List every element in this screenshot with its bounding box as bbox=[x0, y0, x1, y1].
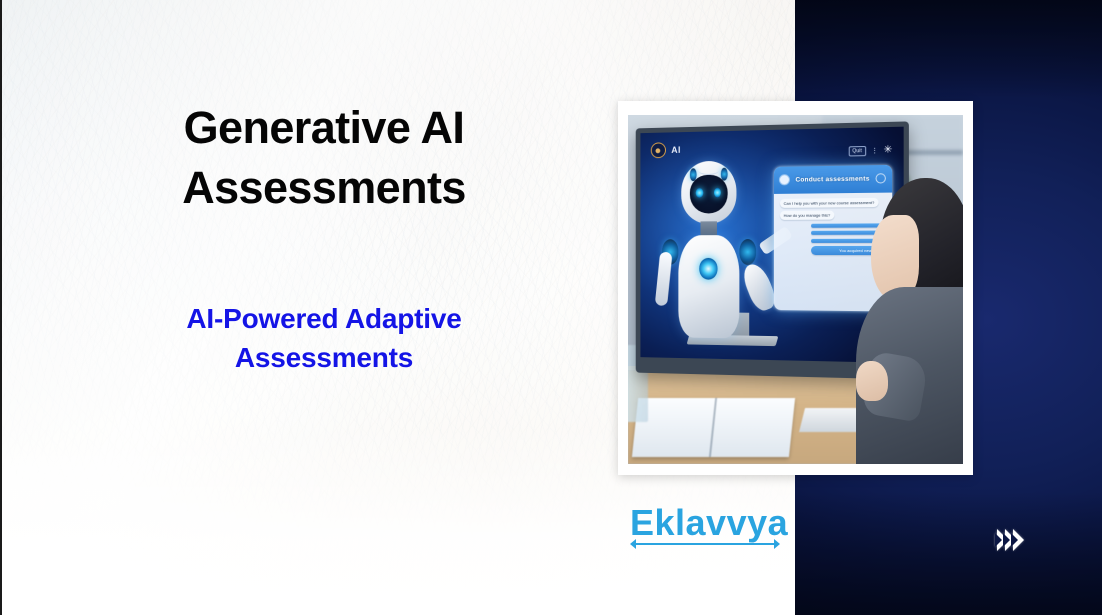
slide-title-block: Generative AI Assessments bbox=[64, 98, 584, 218]
slide-title-line-1: Generative AI bbox=[64, 98, 584, 158]
brand-logo-arrow-underline bbox=[630, 538, 780, 550]
arrow-bar bbox=[634, 543, 774, 545]
robot-arm-left bbox=[655, 252, 673, 307]
presentation-slide: Generative AI Assessments AI-Powered Ada… bbox=[0, 0, 1102, 615]
ai-avatar-icon bbox=[651, 143, 666, 159]
robot-eye-left bbox=[696, 188, 704, 198]
sparkle-icon: ✳ bbox=[884, 146, 893, 156]
robot-face-panel bbox=[690, 175, 728, 214]
next-slide-chevrons[interactable] bbox=[997, 529, 1021, 551]
robot-shoulder-right bbox=[739, 240, 757, 266]
slide-subtitle-block: AI-Powered Adaptive Assessments bbox=[64, 300, 584, 377]
slide-subtitle-line-2: Assessments bbox=[64, 339, 584, 378]
more-options-icon[interactable]: ⋮ bbox=[871, 148, 878, 155]
screen-controls[interactable]: Quit ⋮ ✳ bbox=[849, 146, 893, 157]
student-hand bbox=[856, 361, 887, 401]
student-figure bbox=[849, 178, 963, 464]
robot-head bbox=[681, 161, 737, 224]
chat-message-incoming: How do you manage this? bbox=[780, 211, 835, 220]
ai-badge-label: AI bbox=[672, 146, 682, 156]
chevron-right-icon-3 bbox=[1013, 529, 1024, 551]
chat-avatar-icon bbox=[780, 175, 791, 186]
photo-card: AI Quit ⋮ ✳ bbox=[618, 101, 973, 475]
robot-eye-right bbox=[714, 188, 722, 198]
brand-logo[interactable]: Eklavvya bbox=[630, 505, 780, 550]
slide-subtitle-line-1: AI-Powered Adaptive bbox=[64, 300, 584, 339]
quit-button[interactable]: Quit bbox=[849, 147, 867, 158]
robot-torso bbox=[679, 236, 739, 339]
photo-illustration: AI Quit ⋮ ✳ bbox=[628, 115, 963, 464]
slide-title-line-2: Assessments bbox=[64, 158, 584, 218]
brand-logo-text: Eklavvya bbox=[630, 505, 780, 541]
arrow-right-icon bbox=[774, 539, 780, 549]
ai-badge: AI bbox=[651, 143, 681, 159]
robot-chest-core bbox=[700, 258, 718, 279]
humanoid-robot bbox=[656, 160, 764, 344]
open-book bbox=[632, 398, 796, 457]
